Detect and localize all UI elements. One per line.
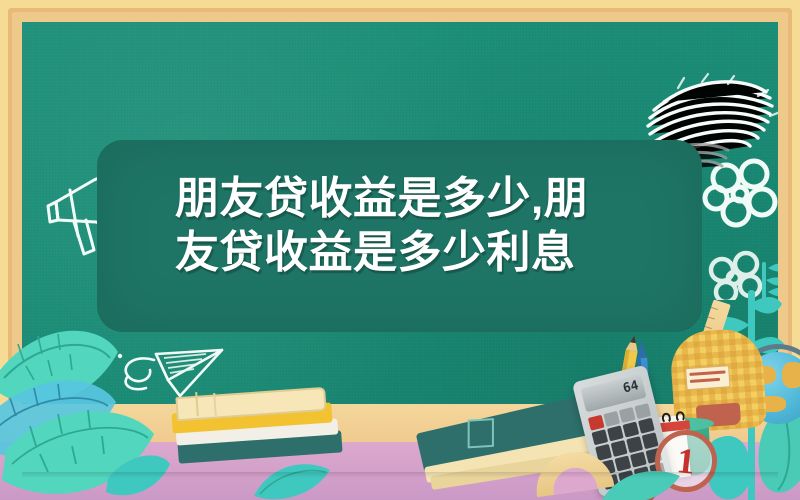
leaf-small-right-front (596, 460, 686, 500)
page-title: 朋友贷收益是多少,朋友贷收益是多少利息 (175, 172, 625, 280)
chalk-tray-shadow (22, 472, 778, 478)
backpack-name-tag (685, 365, 730, 390)
thumbnail-banner: 朋友贷收益是多少,朋友贷收益是多少利息 (0, 0, 800, 500)
